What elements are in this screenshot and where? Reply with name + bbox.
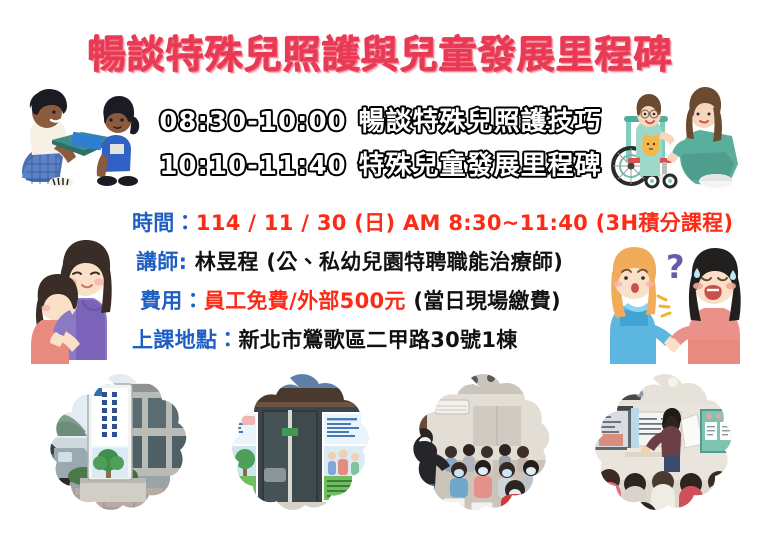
mother-hugging-child-illustration — [28, 238, 132, 364]
therapist-with-child-in-wheelchair-illustration — [604, 84, 756, 190]
fee-note: (當日現場繳費) — [406, 289, 561, 313]
session-time: 10:10-11:40 — [159, 151, 346, 181]
photo-clinic-storefront-window-decals — [206, 372, 374, 544]
fee-value: 員工免費/外部500元 — [204, 289, 406, 313]
confused-adult-with-upset-child-illustration: ? — [600, 244, 756, 364]
location-value: 新北市鶯歌區二甲路30號1棟 — [239, 328, 518, 352]
page-title: 暢談特殊兒照護與兒童發展里程碑 — [88, 24, 673, 79]
photo-seminar-audience-seated — [387, 372, 555, 544]
session-topic: 特殊兒童發展里程碑 — [359, 151, 602, 181]
time-value: 114 / 11 / 30 (日) AM 8:30~11:40 (3H積分課程) — [196, 211, 734, 235]
poster-title-area: 暢談特殊兒照護與兒童發展里程碑 — [0, 24, 761, 79]
session-topic: 暢談特殊兒照護技巧 — [359, 107, 602, 137]
photo-gallery — [0, 372, 761, 556]
fee-label: 費用： — [140, 289, 204, 313]
speaker-value: 林昱程 (公、私幼兒園特聘職能治療師) — [187, 250, 563, 274]
session-time: 08:30-10:00 — [159, 107, 346, 137]
poster-root: 暢談特殊兒照護與兒童發展里程碑 08:30-10:00暢談特殊兒照護技巧 10:… — [0, 0, 761, 556]
location-label: 上課地點： — [132, 328, 239, 352]
speaker-label: 講師: — [136, 250, 187, 274]
photo-lecture-presenter-projector — [569, 372, 737, 544]
question-mark-icon: ? — [666, 248, 685, 286]
time-label: 時間： — [132, 211, 196, 235]
adult-reading-book-with-child-illustration — [6, 86, 146, 190]
photo-clinic-exterior-signboard — [24, 372, 192, 544]
